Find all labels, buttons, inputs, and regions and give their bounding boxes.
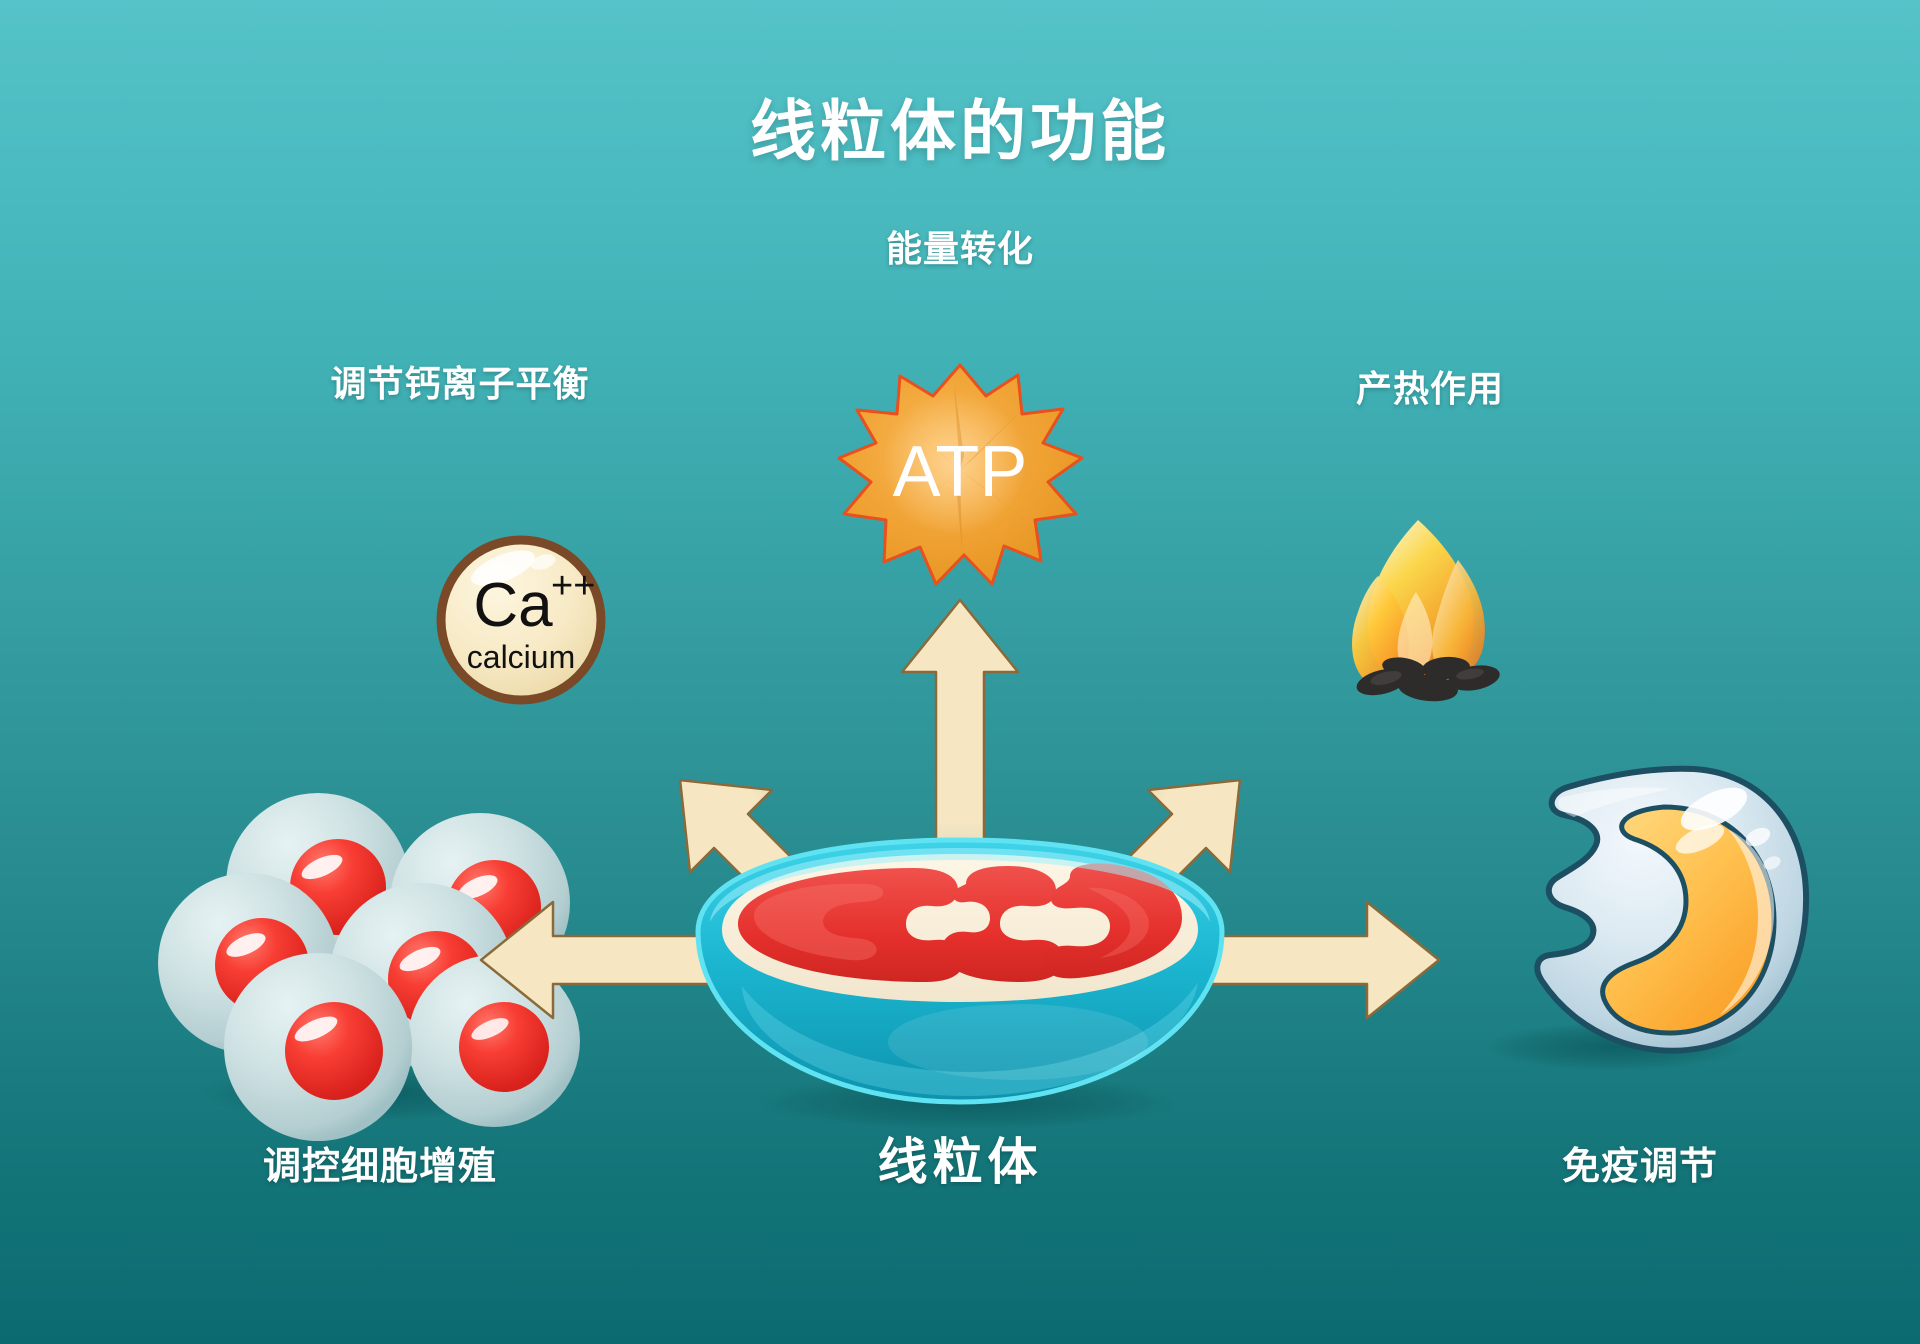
mitochondrion-layer: [0, 0, 1920, 1344]
mitochondrion-icon: [698, 840, 1222, 1130]
infographic-canvas: 线粒体的功能 能量转化 调节钙离子平衡 产热作用 调控细胞增殖 线粒体 免疫调节: [0, 0, 1920, 1344]
